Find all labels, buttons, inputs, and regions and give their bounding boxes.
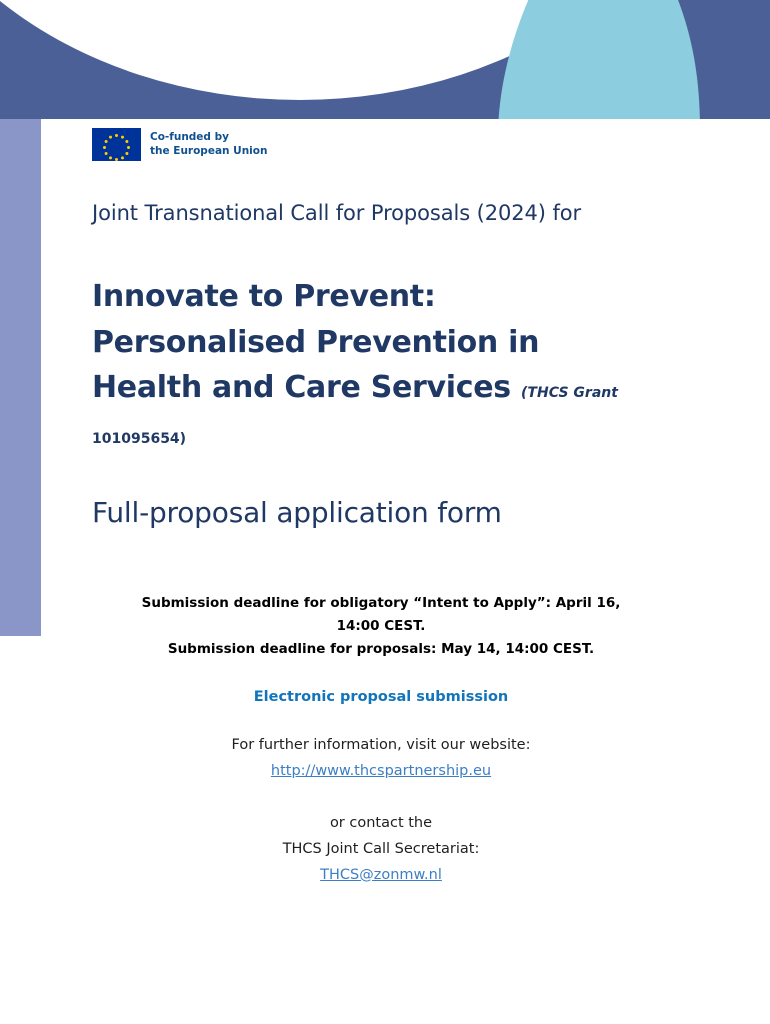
banner-light-blue-band [498,0,700,119]
deadline-intent-line1: Submission deadline for obligatory “Inte… [100,592,662,615]
deadline-intent-line2: 14:00 CEST. [100,615,662,638]
deadline-proposals: Submission deadline for proposals: May 1… [100,638,662,661]
european-union-flag-icon [92,128,141,161]
form-type-heading: Full-proposal application form [92,495,670,530]
call-title-line2: Personalised Prevention in [92,325,539,360]
contact-block: or contact the THCS Joint Call Secretari… [92,811,670,888]
further-information-block: For further information, visit our websi… [92,733,670,785]
eu-emblem-line2: the European Union [150,145,267,158]
eu-funding-emblem: Co-funded by the European Union [92,128,267,161]
email-link[interactable]: THCS@zonmw.nl [320,867,442,883]
contact-line1: or contact the [92,811,670,837]
call-title-line1: Innovate to Prevent: [92,279,436,314]
contact-line2: THCS Joint Call Secretariat: [92,837,670,863]
call-grant-number: 101095654) [92,431,186,447]
header-banner-svg [0,0,770,119]
electronic-proposal-submission-link[interactable]: Electronic proposal submission [254,689,508,705]
call-title: Innovate to Prevent: Personalised Preven… [92,274,670,456]
eu-emblem-text: Co-funded by the European Union [150,131,267,158]
call-subtitle: Joint Transnational Call for Proposals (… [92,200,670,227]
website-link[interactable]: http://www.thcspartnership.eu [271,763,491,779]
further-information-text: For further information, visit our websi… [92,733,670,759]
submission-link-container: Electronic proposal submission [92,686,670,705]
call-grant-note: (THCS Grant [521,385,618,401]
left-accent-bar [0,119,41,636]
eu-emblem-line1: Co-funded by [150,131,267,144]
call-title-line3: Health and Care Services [92,370,511,405]
header-banner-graphic [0,0,770,119]
cover-content: Joint Transnational Call for Proposals (… [92,200,670,888]
submission-deadlines: Submission deadline for obligatory “Inte… [92,592,670,662]
